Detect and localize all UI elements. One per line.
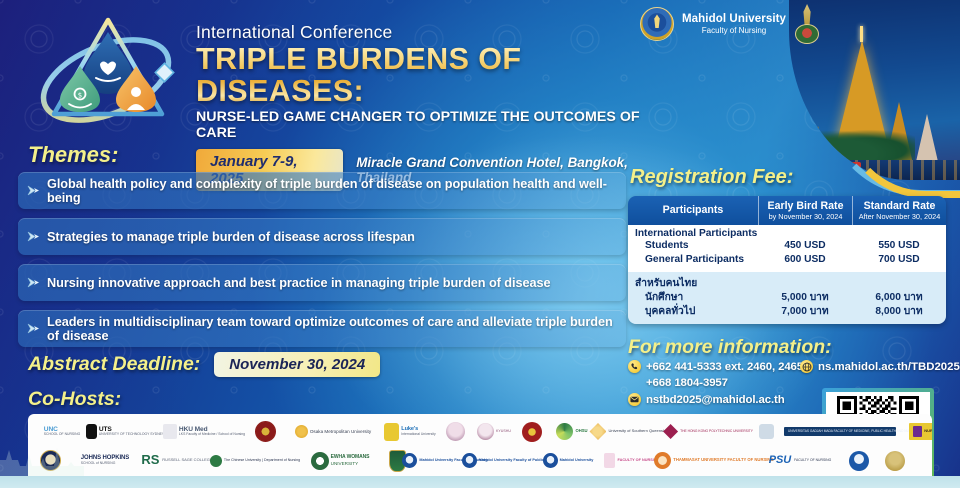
cohost-logo bbox=[842, 447, 876, 474]
cohost-label: THE HONG KONG POLYTECHNIC UNIVERSITY bbox=[680, 430, 753, 434]
cohost-seal-icon bbox=[446, 422, 465, 441]
cohost-label: JOHNS HOPKINS SCHOOL of NURSING bbox=[81, 455, 129, 466]
bottom-accent-strip bbox=[0, 476, 960, 488]
page-title: TRIPLE BURDENS OF DISEASES: bbox=[196, 44, 666, 107]
cohost-logo: HKU Med LKS Faculty of Medicine / School… bbox=[162, 418, 246, 445]
cohost-logo: JOHNS HOPKINS SCHOOL of NURSING bbox=[68, 447, 142, 474]
svg-text:$: $ bbox=[78, 92, 82, 100]
table-row: General Participants 600 USD 700 USD bbox=[628, 253, 946, 267]
table-row: นักศึกษา 5,000 บาท 6,000 บาท bbox=[628, 291, 946, 305]
cohost-seal-icon bbox=[295, 425, 308, 438]
cohost-seal-icon bbox=[849, 451, 869, 471]
cohost-label: OHSU bbox=[575, 429, 587, 434]
cohost-logo bbox=[516, 418, 548, 445]
row-label: Students bbox=[628, 239, 758, 253]
host-name: Mahidol University bbox=[682, 13, 786, 26]
themes-heading: Themes: bbox=[28, 142, 118, 168]
cohost-logo: RS RUSSELL SAGE COLLEGE bbox=[144, 447, 210, 474]
cohost-label: Mahidol University bbox=[560, 458, 594, 462]
cohost-seal-icon bbox=[462, 453, 477, 468]
cohost-sub: FACULTY OF NURSING bbox=[794, 459, 831, 463]
row-label: นักศึกษา bbox=[628, 291, 758, 305]
cohost-sub: KYUSHU bbox=[496, 429, 511, 433]
cohost-logo: OHSU bbox=[550, 418, 594, 445]
row-early-bird: 7,000 บาท bbox=[758, 305, 852, 319]
cohost-seal-icon bbox=[604, 453, 615, 468]
col-subtitle: After November 30, 2024 bbox=[855, 212, 944, 221]
cohost-label: UTS UNIVERSITY OF TECHNOLOGY SYDNEY bbox=[99, 426, 164, 437]
row-early-bird: 5,000 บาท bbox=[758, 291, 852, 305]
temple-prang-third bbox=[915, 114, 939, 166]
cohost-seal-icon bbox=[556, 423, 573, 440]
more-information-heading: For more information: bbox=[628, 336, 832, 359]
theme-item: Strategies to manage triple burden of di… bbox=[18, 218, 626, 255]
cohost-name: EWHA WOMANS bbox=[331, 455, 370, 461]
cohost-logo-strip: UNC SCHOOL OF NURSING UTS UNIVERSITY OF … bbox=[28, 414, 932, 476]
page-subtitle: NURSE-LED GAME CHANGER TO OPTIMIZE THE O… bbox=[196, 109, 666, 141]
cohost-sub: Mahidol University bbox=[560, 458, 594, 462]
cohost-logo bbox=[438, 418, 472, 445]
col-title: Early Bird Rate bbox=[761, 200, 850, 212]
chevron-right-icon bbox=[26, 275, 41, 290]
conference-logo: $ bbox=[34, 8, 184, 140]
cohost-logo: University of Southern Queensland bbox=[596, 418, 664, 445]
cohost-logo bbox=[248, 418, 282, 445]
cohost-logo: UTS UNIVERSITY OF TECHNOLOGY SYDNEY bbox=[90, 418, 160, 445]
mahidol-university-label: Mahidol University Faculty of Nursing bbox=[682, 13, 786, 35]
chevron-right-icon bbox=[26, 321, 41, 336]
cohost-logo: NURSING bbox=[900, 418, 932, 445]
col-title: Standard Rate bbox=[855, 200, 944, 212]
cohost-label: UNC SCHOOL OF NURSING bbox=[44, 426, 80, 437]
chao-phraya-river bbox=[789, 160, 960, 180]
row-label: General Participants bbox=[628, 253, 758, 267]
contact-website-row[interactable]: ns.mahidol.ac.th/TBD2025 bbox=[800, 360, 960, 373]
cohost-seal-icon bbox=[663, 424, 678, 439]
table-group-thai: สำหรับคนไทย นักศึกษา 5,000 บาท 6,000 บาท… bbox=[628, 272, 946, 324]
themes-list: Global health policy and complexity of t… bbox=[18, 172, 626, 356]
abstract-deadline-value: November 30, 2024 bbox=[214, 352, 380, 377]
cohost-label: The Chinese University | Department of N… bbox=[224, 458, 300, 462]
cohost-sub: NURSING bbox=[924, 429, 932, 433]
phone-number-2: +668 1804-3957 bbox=[646, 377, 728, 389]
cohost-sub: SCHOOL of NURSING bbox=[81, 462, 129, 466]
cohost-logo: Luke's International University bbox=[384, 418, 436, 445]
cohost-row-2: JOHNS HOPKINS SCHOOL of NURSING RS RUSSE… bbox=[34, 446, 926, 475]
mahidol-university-logos: Mahidol University Faculty of Nursing bbox=[640, 4, 820, 44]
cohost-seal-icon bbox=[40, 450, 61, 471]
cohost-label: RS RUSSELL SAGE COLLEGE bbox=[141, 453, 212, 468]
row-early-bird: 600 USD bbox=[758, 253, 852, 267]
cohost-seal-icon bbox=[210, 455, 222, 467]
email-icon bbox=[628, 393, 641, 406]
cohost-name: PSU bbox=[769, 454, 791, 466]
col-subtitle: by November 30, 2024 bbox=[761, 212, 850, 221]
cohost-label: HKU Med LKS Faculty of Medicine / School… bbox=[179, 426, 245, 437]
cohost-label: KYUSHU bbox=[496, 429, 511, 433]
cohost-sub: The Chinese University | Department of N… bbox=[224, 458, 300, 462]
chevron-right-icon bbox=[26, 183, 41, 198]
cohost-label: Luke's International University bbox=[401, 426, 436, 436]
chevron-right-icon bbox=[26, 229, 41, 244]
theme-item-label: Global health policy and complexity of t… bbox=[47, 177, 626, 205]
row-label: บุคคลทั่วไป bbox=[628, 305, 758, 319]
abstract-deadline-label: Abstract Deadline: bbox=[28, 353, 200, 376]
table-header-row: Participants Early Bird Rate by November… bbox=[628, 196, 946, 225]
cohost-logo: UNC SCHOOL OF NURSING bbox=[34, 418, 88, 445]
cohost-sub: UNIVERSITY bbox=[331, 461, 370, 466]
cohost-label: FACULTY OF NURSING bbox=[617, 458, 659, 462]
theme-item: Leaders in multidisciplinary team toward… bbox=[18, 310, 626, 347]
cohost-label: University of Southern Queensland bbox=[608, 429, 670, 433]
cohost-sub: THAMMASAT UNIVERSITY FACULTY OF NURSING bbox=[673, 458, 773, 463]
thai-royal-emblem-icon bbox=[794, 4, 820, 44]
cohost-seal-icon bbox=[543, 453, 558, 468]
registration-fee-heading: Registration Fee: bbox=[630, 166, 793, 189]
cohost-sub: OHSU bbox=[575, 429, 587, 434]
registration-fee-table: Participants Early Bird Rate by November… bbox=[628, 196, 946, 324]
cohost-seal-icon bbox=[384, 423, 399, 441]
abstract-deadline-row: Abstract Deadline: November 30, 2024 bbox=[28, 352, 380, 377]
phone-number-1: +662 441-5333 ext. 2460, 2465 bbox=[646, 361, 803, 373]
row-standard: 6,000 บาท bbox=[852, 291, 946, 305]
cohost-seal-icon bbox=[759, 424, 774, 439]
cohost-logo: THAMMASAT UNIVERSITY FACULTY OF NURSING bbox=[670, 447, 758, 474]
table-row: บุคคลทั่วไป 7,000 บาท 8,000 บาท bbox=[628, 305, 946, 319]
cohost-label: NURSING bbox=[909, 423, 932, 440]
cohost-seal-icon bbox=[255, 421, 276, 442]
cohost-logo: Mahidol University Faculty of Public Hea… bbox=[478, 447, 540, 474]
globe-icon bbox=[800, 360, 813, 373]
cohost-logo: Osaka Metropolitan University bbox=[284, 418, 382, 445]
table-group-international: International Participants Students 450 … bbox=[628, 225, 946, 272]
cohost-sub: UNIVERSITY OF TECHNOLOGY SYDNEY bbox=[99, 433, 164, 437]
cohost-sub: University of Southern Queensland bbox=[608, 429, 670, 433]
row-standard: 700 USD bbox=[852, 253, 946, 267]
cohost-sub: UNIVERSITAS GADJAH MADA FACULTY OF MEDIC… bbox=[788, 430, 892, 434]
kicker-text: International Conference bbox=[196, 22, 666, 43]
cohost-logo: THE HONG KONG POLYTECHNIC UNIVERSITY bbox=[666, 418, 750, 445]
table-col-participants: Participants bbox=[628, 196, 758, 225]
cohost-sub: FACULTY OF NURSING bbox=[617, 458, 659, 462]
cohost-logo: Mahidol University bbox=[542, 447, 594, 474]
row-early-bird: 450 USD bbox=[758, 239, 852, 253]
cohosts-heading: Co-Hosts: bbox=[28, 388, 121, 411]
theme-item-label: Nursing innovative approach and best pra… bbox=[47, 276, 551, 290]
cohost-label: EWHA WOMANS UNIVERSITY bbox=[331, 455, 370, 466]
host-faculty: Faculty of Nursing bbox=[682, 26, 786, 35]
row-standard: 550 USD bbox=[852, 239, 946, 253]
cohost-label: Osaka Metropolitan University bbox=[310, 429, 371, 434]
cohost-label: THAMMASAT UNIVERSITY FACULTY OF NURSING bbox=[673, 458, 773, 463]
emblem-base bbox=[795, 24, 819, 44]
cohost-logo: PSU FACULTY OF NURSING bbox=[760, 447, 840, 474]
cohost-seal-icon bbox=[654, 452, 671, 469]
cohost-sub: LKS Faculty of Medicine / School of Nurs… bbox=[179, 433, 245, 437]
emblem-crown bbox=[801, 4, 813, 26]
cohost-logo: UNIVERSITAS GADJAH MADA FACULTY OF MEDIC… bbox=[782, 418, 898, 445]
cohost-name: RS bbox=[141, 453, 159, 468]
cohost-logo: The Chinese University | Department of N… bbox=[212, 447, 298, 474]
cohost-sub: THE HONG KONG POLYTECHNIC UNIVERSITY bbox=[680, 430, 753, 434]
table-col-early-bird: Early Bird Rate by November 30, 2024 bbox=[758, 196, 852, 225]
cohost-seal-icon bbox=[522, 422, 542, 442]
row-standard: 8,000 บาท bbox=[852, 305, 946, 319]
cohost-sub: International University bbox=[401, 433, 436, 437]
cohost-sub: RUSSELL SAGE COLLEGE bbox=[162, 458, 212, 462]
cohost-seal-icon bbox=[885, 451, 905, 471]
cohost-logo bbox=[34, 447, 66, 474]
theme-item-label: Strategies to manage triple burden of di… bbox=[47, 230, 415, 244]
temple-spire bbox=[860, 26, 863, 42]
conference-poster: Mahidol University Faculty of Nursing bbox=[0, 0, 960, 488]
cohost-seal-icon bbox=[477, 423, 494, 440]
table-row: Students 450 USD 550 USD bbox=[628, 239, 946, 253]
table-col-standard: Standard Rate After November 30, 2024 bbox=[852, 196, 946, 225]
cohost-label: UNIVERSITAS GADJAH MADA FACULTY OF MEDIC… bbox=[784, 427, 896, 437]
theme-item: Nursing innovative approach and best pra… bbox=[18, 264, 626, 301]
cohost-sub: SCHOOL OF NURSING bbox=[44, 433, 80, 437]
theme-item: Global health policy and complexity of t… bbox=[18, 172, 626, 209]
cohost-logo: KYUSHU bbox=[474, 418, 514, 445]
col-title: Participants bbox=[630, 200, 756, 216]
cohost-seal-icon bbox=[311, 452, 329, 470]
cohost-seal-icon bbox=[402, 453, 417, 468]
group-label: สำหรับคนไทย bbox=[628, 275, 946, 291]
river-boat bbox=[845, 162, 861, 168]
phone-icon bbox=[628, 360, 641, 373]
cohost-sub: Osaka Metropolitan University bbox=[310, 429, 371, 434]
triple-burden-logo-icon: $ bbox=[34, 8, 184, 140]
theme-item-label: Leaders in multidisciplinary team toward… bbox=[47, 315, 626, 343]
group-label: International Participants bbox=[628, 228, 946, 239]
email-address: nstbd2025@mahidol.ac.th bbox=[646, 394, 785, 406]
header-block: International Conference TRIPLE BURDENS … bbox=[196, 22, 666, 191]
cohost-row-1: UNC SCHOOL OF NURSING UTS UNIVERSITY OF … bbox=[34, 417, 926, 446]
cohost-logo: EWHA WOMANS UNIVERSITY bbox=[300, 447, 380, 474]
cohost-logo bbox=[878, 447, 912, 474]
website-url: ns.mahidol.ac.th/TBD2025 bbox=[818, 361, 960, 373]
cohost-label: PSU FACULTY OF NURSING bbox=[769, 454, 832, 466]
cohost-logo bbox=[752, 418, 780, 445]
